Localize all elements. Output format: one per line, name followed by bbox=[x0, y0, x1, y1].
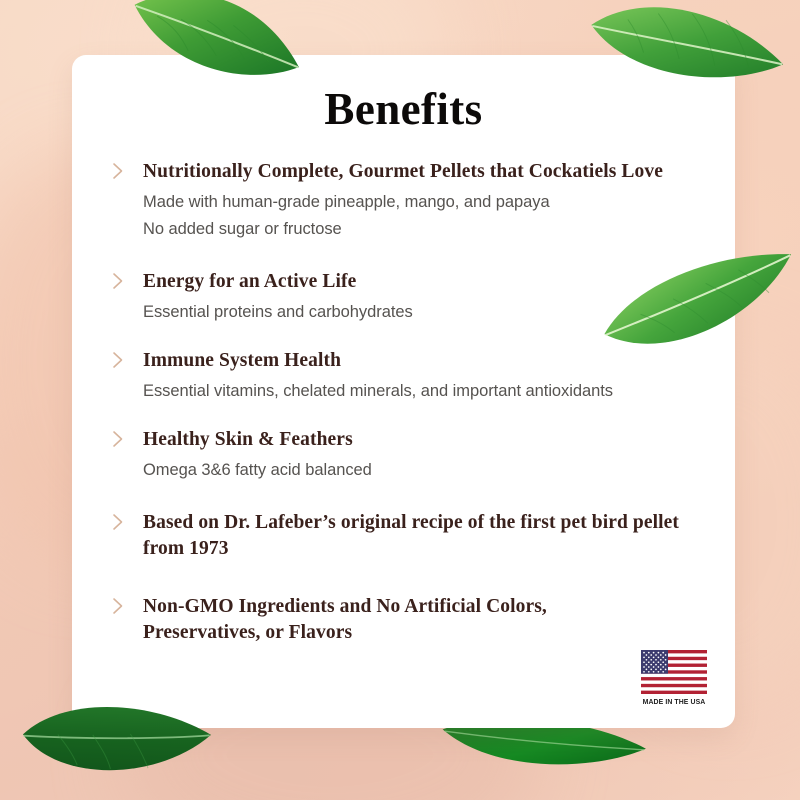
list-item: Healthy Skin & Feathers Omega 3&6 fatty … bbox=[108, 427, 701, 484]
chevron-right-icon bbox=[111, 512, 125, 532]
leaf-icon-right-middle bbox=[591, 237, 800, 374]
benefit-heading: Non-GMO Ingredients and No Artificial Co… bbox=[143, 594, 598, 646]
benefits-list: Nutritionally Complete, Gourmet Pellets … bbox=[72, 135, 735, 646]
card-content: Benefits Nutritionally Complete, Gourmet… bbox=[72, 55, 735, 728]
benefit-heading: Based on Dr. Lafeber’s original recipe o… bbox=[143, 510, 683, 562]
chevron-right-icon bbox=[111, 350, 125, 370]
benefit-subtext: Made with human-grade pineapple, mango, … bbox=[143, 189, 701, 216]
benefit-heading: Healthy Skin & Feathers bbox=[143, 427, 701, 453]
benefit-subtext: Omega 3&6 fatty acid balanced bbox=[143, 457, 701, 484]
leaf-icon-top-right bbox=[582, 0, 800, 115]
made-in-usa-caption: MADE IN THE USA bbox=[642, 697, 706, 706]
benefits-infographic: Benefits Nutritionally Complete, Gourmet… bbox=[0, 0, 800, 800]
benefit-subtext: No added sugar or fructose bbox=[143, 216, 701, 243]
benefit-heading: Nutritionally Complete, Gourmet Pellets … bbox=[143, 159, 701, 185]
chevron-right-icon bbox=[111, 596, 125, 616]
usa-flag-icon bbox=[641, 650, 707, 694]
made-in-usa-badge: MADE IN THE USA bbox=[639, 650, 709, 706]
chevron-right-icon bbox=[111, 271, 125, 291]
leaf-icon-top-left bbox=[124, 0, 308, 105]
chevron-right-icon bbox=[111, 161, 125, 181]
list-item: Non-GMO Ingredients and No Artificial Co… bbox=[108, 594, 701, 646]
chevron-right-icon bbox=[111, 429, 125, 449]
list-item: Nutritionally Complete, Gourmet Pellets … bbox=[108, 159, 701, 243]
list-item: Based on Dr. Lafeber’s original recipe o… bbox=[108, 510, 701, 562]
benefit-subtext: Essential vitamins, chelated minerals, a… bbox=[143, 378, 701, 405]
benefits-card: Benefits Nutritionally Complete, Gourmet… bbox=[72, 55, 735, 728]
